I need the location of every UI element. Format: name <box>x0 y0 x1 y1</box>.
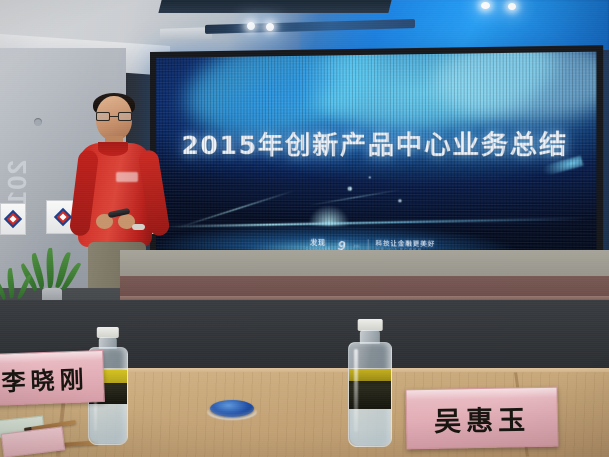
bottle-highlight <box>354 349 358 431</box>
ceiling-spotlight <box>481 2 490 9</box>
nameplate-right: 吴惠玉 <box>405 387 558 450</box>
ceiling-spotlight <box>508 3 516 10</box>
ceiling-spotlight <box>266 23 274 31</box>
glasses-icon <box>96 112 132 121</box>
plant-leaf <box>45 248 55 288</box>
conference-room-photo: 2015 2015年创新产品中心业务总结 发现 C-DISCOVER <box>0 0 609 457</box>
ceiling-spotlight <box>247 22 255 30</box>
led-screen: 2015年创新产品中心业务总结 发现 C-DISCOVER 9 周年 科技让金融… <box>150 45 603 279</box>
shirt-logo <box>116 172 138 182</box>
nameplate-left: 李晓刚 <box>0 350 105 406</box>
wall-sensor-icon <box>34 118 42 126</box>
table-cable-grommet[interactable] <box>210 400 254 417</box>
plant-leaf <box>6 268 16 299</box>
plant-leaf <box>0 276 8 300</box>
nameplate-gloss <box>407 388 557 401</box>
presenter-collar <box>98 142 128 156</box>
wristwatch <box>132 224 145 230</box>
plant-leaf <box>17 274 31 300</box>
water-bottle[interactable] <box>348 319 392 447</box>
nameplate-name: 吴惠玉 <box>434 398 531 439</box>
nameplate-name: 李晓刚 <box>1 359 89 397</box>
ceiling-dark-panel <box>158 0 391 13</box>
led-screen-surface: 2015年创新产品中心业务总结 发现 C-DISCOVER 9 周年 科技让金融… <box>156 52 597 273</box>
diamond-logo-icon <box>5 211 21 227</box>
wall-panel <box>0 203 26 235</box>
bottle-body <box>348 342 392 447</box>
screen-pixel-grid <box>156 52 597 273</box>
